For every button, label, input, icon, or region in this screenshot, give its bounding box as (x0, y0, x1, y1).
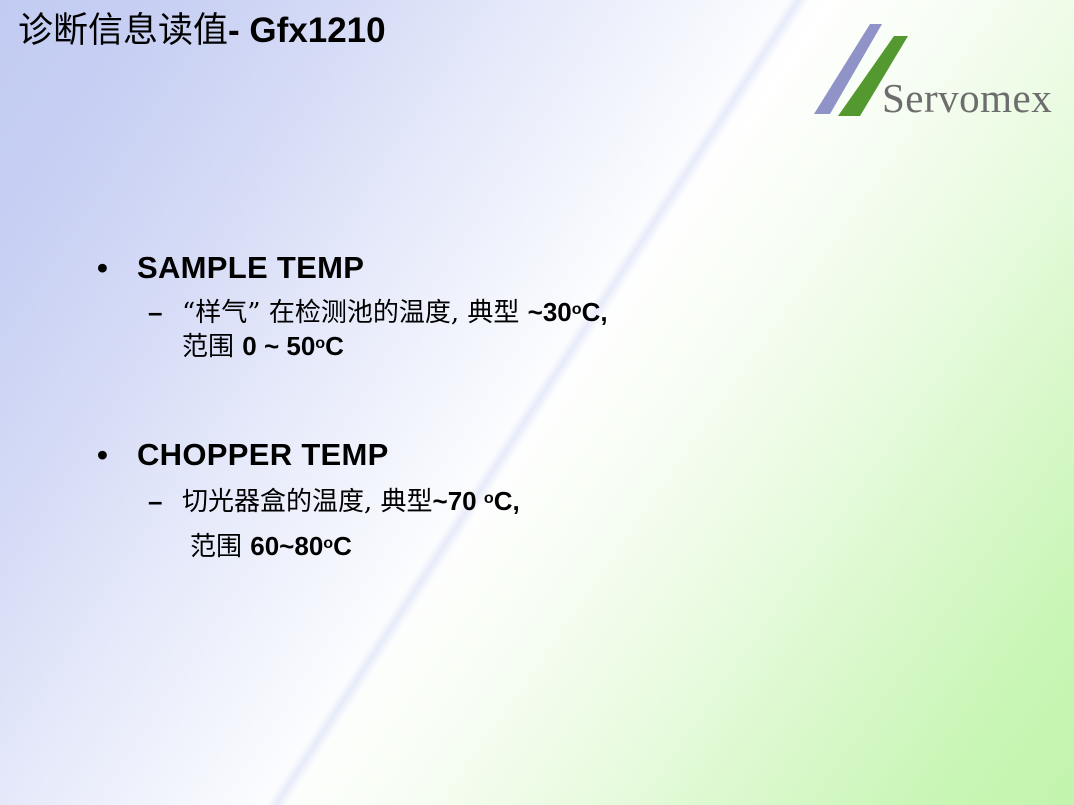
degree-symbol: o (572, 299, 582, 317)
bullet-sub-line-2: 范围 60~80oC (0, 530, 1074, 565)
sub-line-unit: C, (582, 297, 608, 327)
slide-canvas: 诊断信息读值- Gfx1210 Servomex • SAMPLE TEMP –… (0, 0, 1074, 805)
sub-line-value: 60~80 (250, 531, 323, 561)
sub-line-value: 0 ~ 50 (242, 331, 315, 361)
servomex-logo: Servomex (808, 22, 1074, 132)
page-title-cjk: 诊断信息读值 (18, 11, 228, 51)
bullet-heading-label: CHOPPER TEMP (137, 437, 389, 472)
page-title: 诊断信息读值- Gfx1210 (18, 11, 386, 51)
bullet-sub-line-1: – “样气” 在检测池的温度, 典型 ~30oC, (0, 296, 1074, 331)
bullet-spacer (0, 365, 1074, 435)
bullet-dot-icon: • (97, 248, 108, 288)
bullet-heading-label: SAMPLE TEMP (137, 250, 364, 285)
sub-line-value: ~30 (528, 297, 572, 327)
bullet-dash-icon: – (148, 296, 162, 330)
sub-line-text-cjk: 范围 (182, 332, 242, 362)
bullet-dash-icon: – (148, 485, 162, 519)
page-title-model: - Gfx1210 (228, 11, 386, 50)
sub-line-unit: C (333, 531, 352, 561)
bullet-heading-sample-temp: • SAMPLE TEMP (0, 248, 1074, 288)
bullet-block-chopper-temp: • CHOPPER TEMP – 切光器盒的温度, 典型~70 oC, 范围 6… (0, 435, 1074, 564)
bullet-sub-line-2: 范围 0 ~ 50oC (0, 330, 1074, 365)
sub-line-text-cjk: 范围 (190, 532, 250, 562)
bullet-heading-chopper-temp: • CHOPPER TEMP (0, 435, 1074, 475)
degree-symbol: o (323, 533, 333, 551)
sub-line-value: ~70 (433, 486, 484, 516)
sub-line-unit: C (325, 331, 344, 361)
content-body: • SAMPLE TEMP – “样气” 在检测池的温度, 典型 ~30oC, … (0, 248, 1074, 565)
sub-line-text-cjk: 切光器盒的温度, 典型 (182, 487, 433, 517)
degree-symbol: o (315, 334, 325, 352)
logo-wordmark: Servomex (882, 74, 1052, 122)
sub-line-unit: C, (494, 486, 520, 516)
bullet-block-sample-temp: • SAMPLE TEMP – “样气” 在检测池的温度, 典型 ~30oC, … (0, 248, 1074, 365)
bullet-dot-icon: • (97, 435, 108, 475)
sub-line-text-cjk: “样气” 在检测池的温度, 典型 (182, 298, 528, 328)
bullet-sub-line-1: – 切光器盒的温度, 典型~70 oC, (0, 485, 1074, 520)
degree-symbol: o (484, 489, 494, 507)
